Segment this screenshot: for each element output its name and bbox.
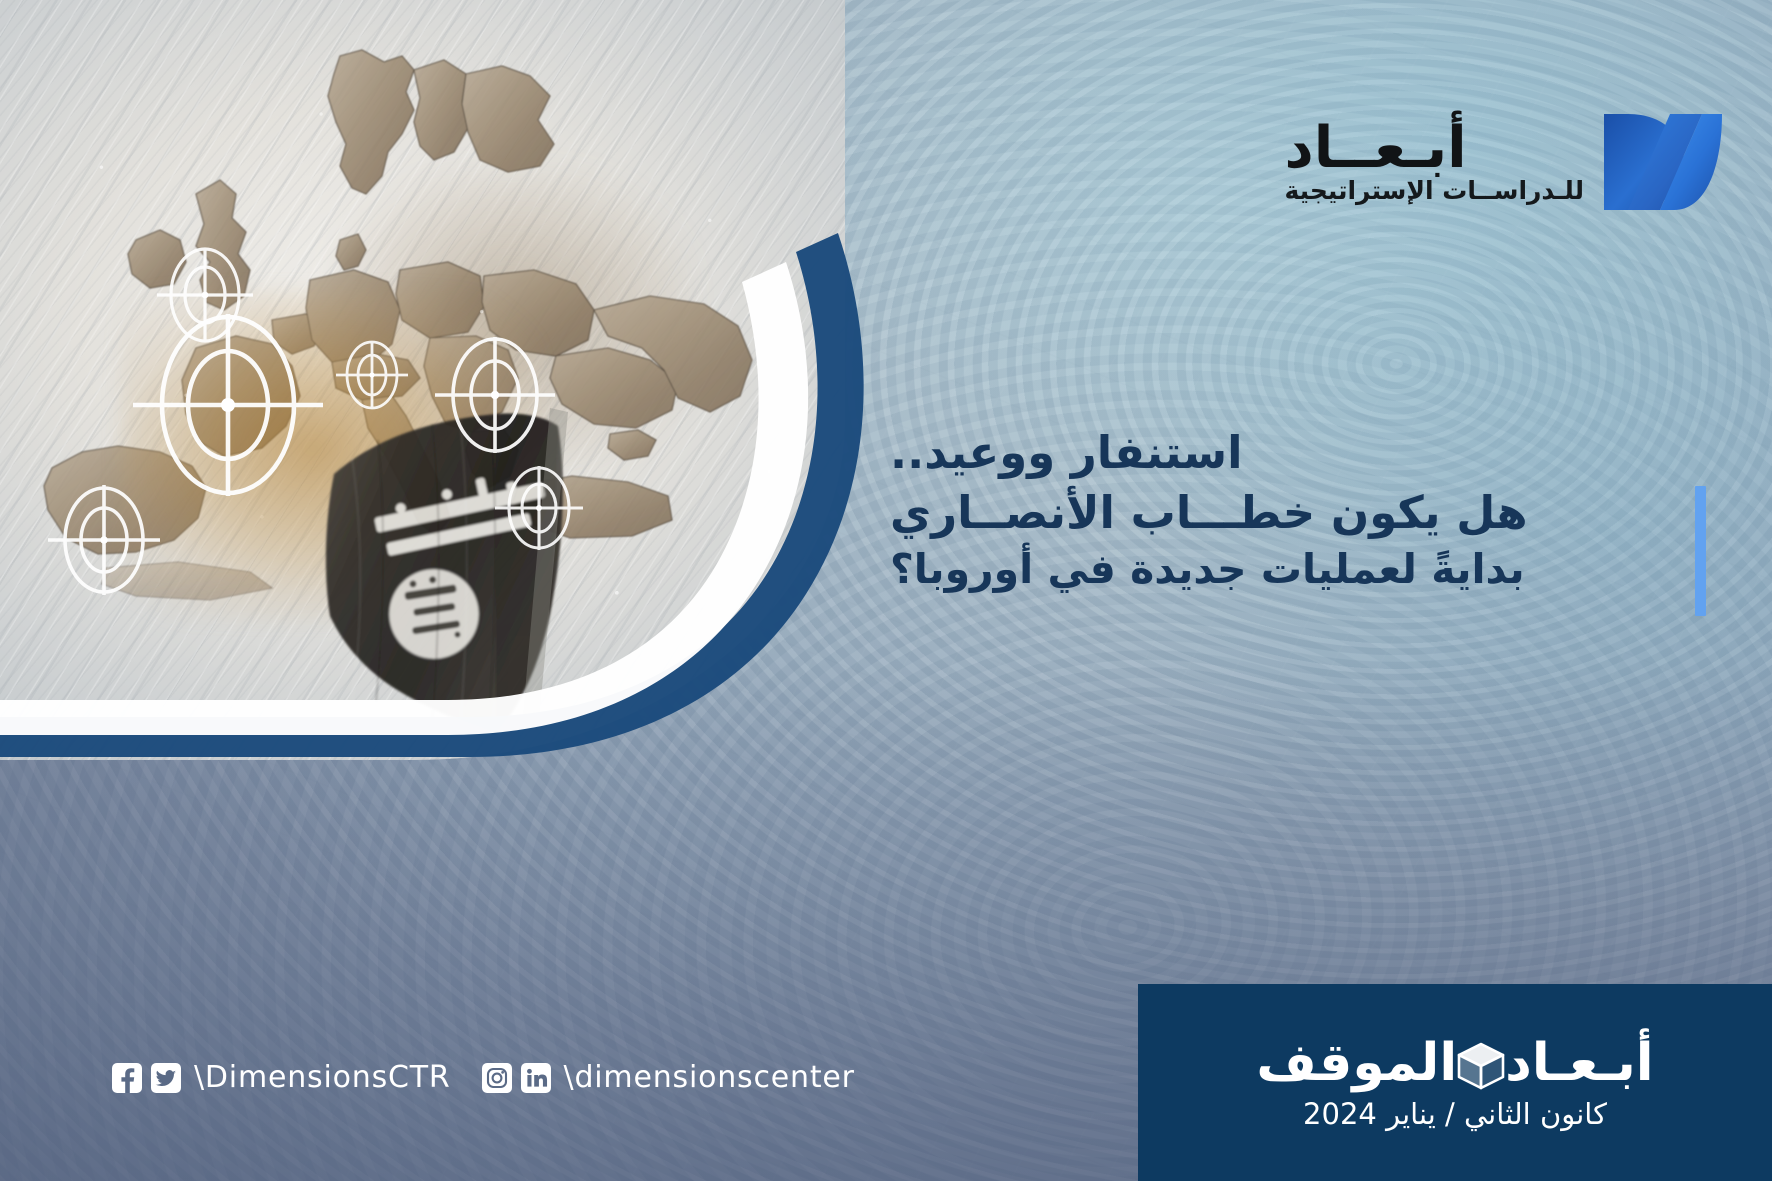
crosshair-italy-icon [493, 462, 585, 554]
cube-box-icon [1451, 1037, 1511, 1093]
brand-logo[interactable]: أبـعــاد للـدراســات الإستراتيجية [1285, 108, 1725, 216]
dss-monogram-icon [1598, 108, 1724, 216]
instagram-icon[interactable] [482, 1063, 512, 1093]
logo-name: أبـعــاد [1285, 121, 1467, 175]
logo-wordmark: أبـعــاد للـدراســات الإستراتيجية [1285, 121, 1585, 203]
hero-image-panel [0, 0, 845, 760]
social-handle-dimensionsctr[interactable]: \DimensionsCTR [194, 1060, 451, 1095]
crosshair-france-icon [131, 308, 325, 502]
issue-date: كانون الثاني / يناير 2024 [1303, 1097, 1607, 1131]
social-group-dimensionsctr: \DimensionsCTR [112, 1060, 469, 1095]
series-banner: أبـعـاد الموقف كانون الثاني / يناير 2024 [1138, 984, 1772, 1181]
headline-accent-bar [1695, 486, 1706, 616]
twitter-icon[interactable] [151, 1063, 181, 1093]
headline-line-1: استنفار ووعيد.. [890, 424, 1243, 482]
headline-line-2: هل يكون خطـــاب الأنصــاري [890, 484, 1528, 542]
hero-image-clip [0, 0, 845, 760]
series-title: أبـعـاد الموقف [1256, 1035, 1653, 1091]
series-title-left: الموقف [1256, 1037, 1457, 1089]
crosshair-belgium-icon [334, 337, 410, 413]
logo-tagline: للـدراســات الإستراتيجية [1285, 178, 1585, 203]
crosshair-germany-icon [433, 333, 557, 457]
social-handle-dimensionscenter[interactable]: \dimensionscenter [564, 1060, 855, 1095]
headline-line-3: بدايةً لعمليات جديدة في أوروبا؟ [890, 543, 1525, 595]
social-footer: \DimensionsCTR \dimensionscenter [112, 1060, 873, 1095]
poster-canvas: أبـعــاد للـدراســات الإستراتيجية استنفا… [0, 0, 1772, 1181]
linkedin-icon[interactable] [521, 1063, 551, 1093]
crosshair-portugal-icon [46, 482, 162, 598]
facebook-icon[interactable] [112, 1063, 142, 1093]
series-title-right: أبـعـاد [1505, 1037, 1653, 1089]
social-group-dimensionscenter: \dimensionscenter [482, 1060, 873, 1095]
headline-block: استنفار ووعيد.. هل يكون خطـــاب الأنصــا… [890, 424, 1680, 596]
